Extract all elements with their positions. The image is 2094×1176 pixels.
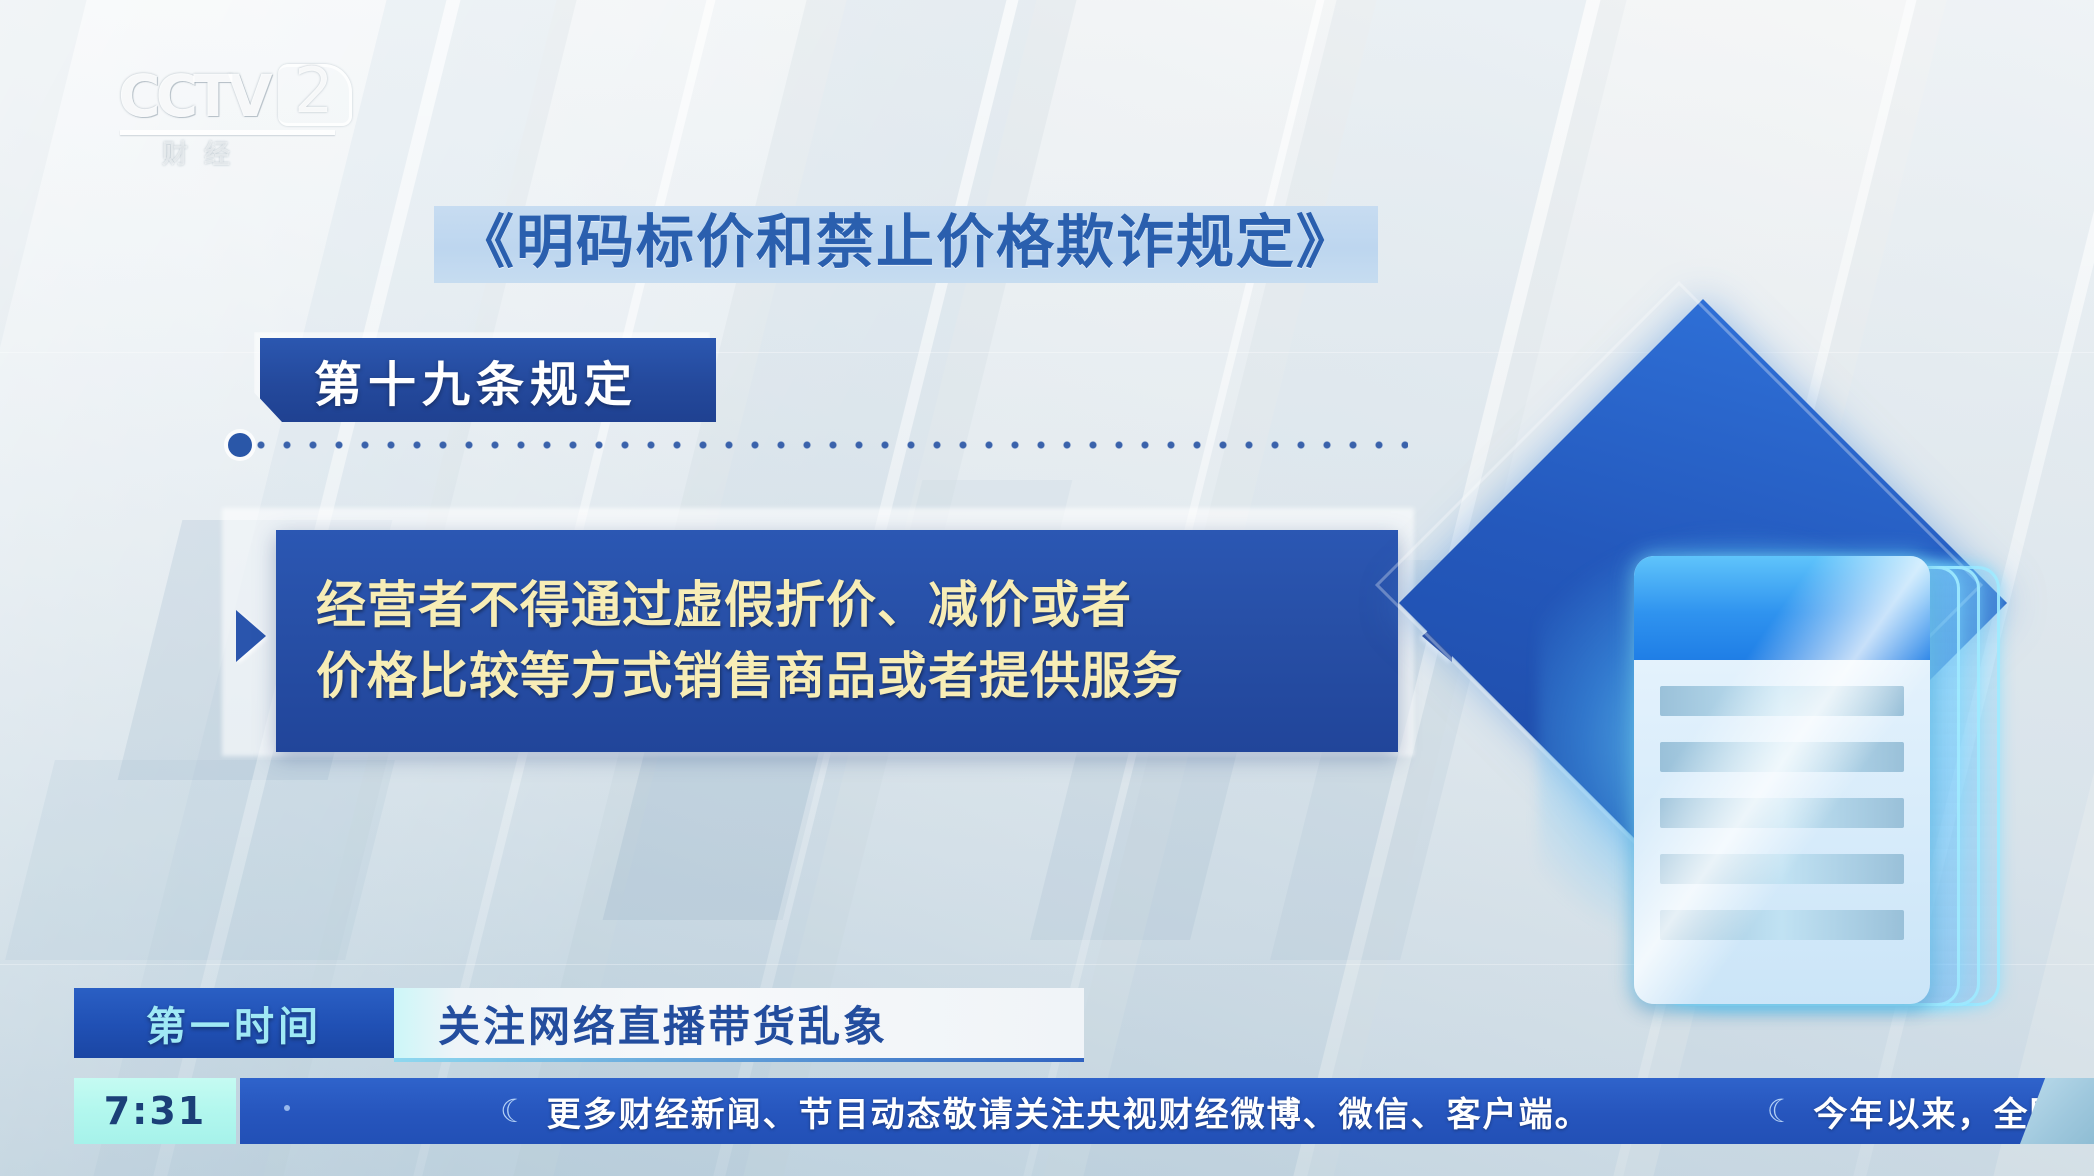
triangle-right-marker-icon [236,610,266,662]
content-line-2: 价格比较等方式销售商品或者提供服务 [316,641,1398,712]
program-name-block: 第一时间 [74,988,394,1058]
logo-channel-number: 2 [294,54,333,127]
document-text-rows [1634,660,1930,940]
headline-text: 关注网络直播带货乱象 [438,993,888,1054]
document-graphic [1448,378,2088,1018]
program-name: 第一时间 [146,994,322,1052]
moon-icon-1: ☾ [500,1095,529,1127]
ticker-item-1: 更多财经新闻、节目动态敬请关注央视财经微博、微信、客户端。 [547,1087,1591,1136]
regulation-title-band: 《明码标价和禁止价格欺诈规定》 [434,206,1378,283]
clock-time: 7:31 [104,1089,207,1133]
logo-text: CCTV [118,62,268,130]
clock-block: 7:31 [74,1078,236,1144]
dotted-divider-start-dot [228,433,252,457]
document-front-page [1634,556,1930,1004]
regulation-content-card: 经营者不得通过虚假折价、减价或者 价格比较等方式销售商品或者提供服务 [276,530,1398,752]
ticker-bullet-icon [284,1105,290,1111]
news-ticker: 7:31 ☾ 更多财经新闻、节目动态敬请关注央视财经微博、微信、客户端。 ☾ 今… [74,1078,2094,1144]
broadcast-screen: CCTV 2 财经 《明码标价和禁止价格欺诈规定》 第十九条规定 经营者不得通过… [0,0,2094,1176]
ticker-body: ☾ 更多财经新闻、节目动态敬请关注央视财经微博、微信、客户端。 ☾ 今年以来，全… [240,1078,2094,1144]
lower-third-bar: 第一时间 关注网络直播带货乱象 [74,988,1084,1058]
clause-tag: 第十九条规定 [260,338,716,422]
headline-block: 关注网络直播带货乱象 [394,988,1084,1058]
content-line-1: 经营者不得通过虚假折价、减价或者 [316,570,1398,641]
document-header-bar [1634,556,1930,660]
dotted-divider [248,438,1408,452]
moon-icon-2: ☾ [1767,1095,1796,1127]
clause-tag-label: 第十九条规定 [314,345,638,415]
page-title: 《明码标价和禁止价格欺诈规定》 [456,212,1356,273]
headline-underline [394,1058,1084,1062]
cctv-channel-logo: CCTV 2 财经 [118,58,348,158]
logo-subtitle: 财经 [162,134,246,171]
document-stack-icon [1634,556,2034,1026]
